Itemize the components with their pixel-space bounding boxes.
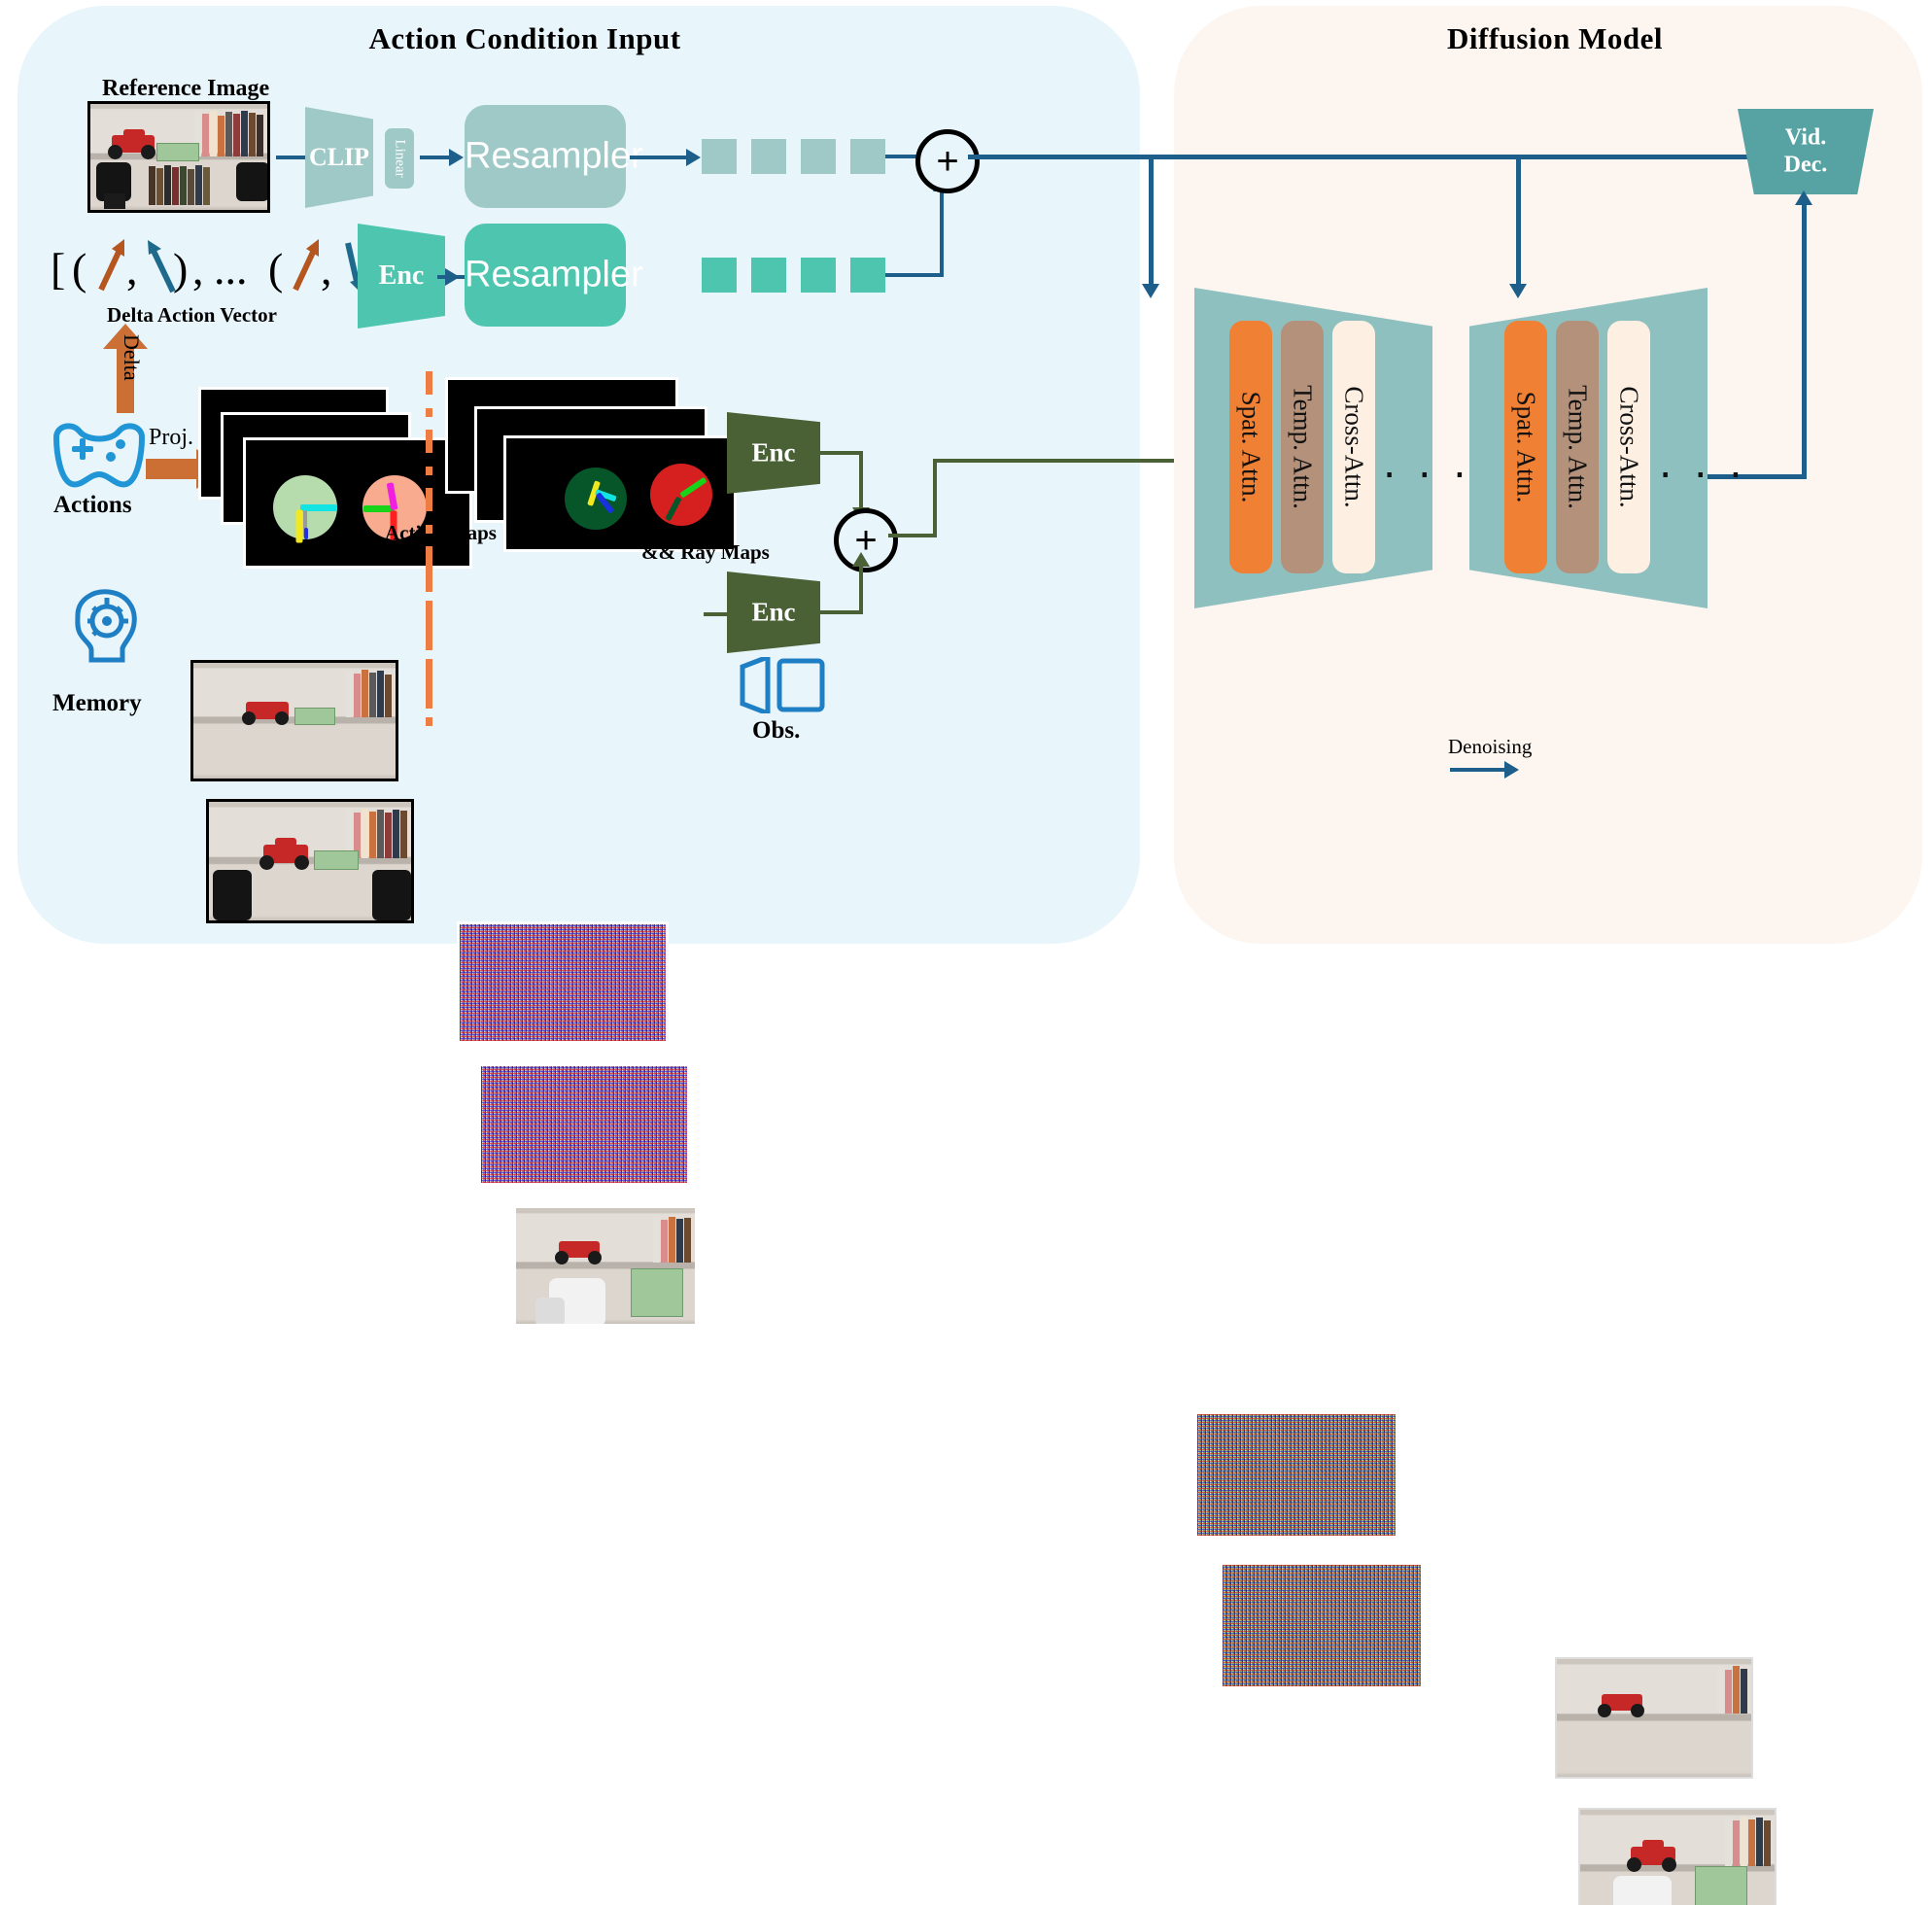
ray-map-disk-green bbox=[565, 468, 627, 530]
unet-ellipsis-1: · · · bbox=[1382, 445, 1471, 498]
bus-branch-2-head bbox=[1509, 284, 1527, 298]
dashed-divider-bottom bbox=[426, 564, 433, 748]
reference-image-label: Reference Image bbox=[102, 76, 269, 102]
image-token-3 bbox=[850, 139, 885, 174]
reference-image-photo bbox=[87, 101, 270, 213]
wire-action-tokens-right bbox=[885, 273, 944, 277]
denoise-output-frame-back bbox=[1555, 1657, 1753, 1779]
action-encoder-block[interactable]: Enc bbox=[358, 224, 445, 329]
obs-noise-frame-mid bbox=[478, 1063, 690, 1186]
arrow-linear-to-resampler bbox=[420, 156, 451, 159]
action-stick-blue bbox=[304, 528, 308, 539]
actions-label: Actions bbox=[53, 492, 132, 519]
linear-block[interactable]: Linear bbox=[385, 128, 414, 189]
arrow-resampler-to-tokens-head bbox=[686, 149, 701, 166]
denoising-arrow bbox=[1450, 768, 1508, 772]
video-decoder-block[interactable]: Vid. Dec. bbox=[1738, 109, 1874, 194]
action-stick-yellow bbox=[296, 510, 303, 543]
action-maps-label: Action Maps bbox=[385, 521, 497, 545]
wire-adder2-right bbox=[888, 534, 937, 537]
temp-attn-block-2[interactable]: Temp. Attn. bbox=[1556, 321, 1599, 573]
proj-label: Proj. bbox=[149, 425, 193, 451]
bus-branch-1-head bbox=[1142, 284, 1159, 298]
conditioning-bus-line bbox=[968, 155, 1749, 159]
image-token-2 bbox=[801, 139, 836, 174]
spat-attn-block-1[interactable]: Spat. Attn. bbox=[1229, 321, 1272, 573]
resampler-action-label: Resampler bbox=[465, 255, 626, 296]
ray-map-frame-front bbox=[503, 435, 737, 552]
camera-obs-icon bbox=[739, 657, 826, 713]
clip-label: CLIP bbox=[305, 143, 373, 172]
spat-attn-block-2[interactable]: Spat. Attn. bbox=[1504, 321, 1547, 573]
resampler-action-block[interactable]: Resampler bbox=[465, 224, 626, 327]
image-token-0 bbox=[702, 139, 737, 174]
cross-attn-block-1[interactable]: Cross-Attn. bbox=[1332, 321, 1375, 573]
action-token-1 bbox=[751, 258, 786, 293]
wire-encobs-up-head bbox=[852, 552, 870, 567]
left-panel-title: Action Condition Input bbox=[321, 21, 729, 56]
obs-encoder-block[interactable]: Enc bbox=[727, 571, 820, 653]
obs-noise-frame-back bbox=[457, 921, 669, 1044]
arrow-resampler-to-tokens bbox=[630, 156, 690, 159]
action-token-0 bbox=[702, 258, 737, 293]
wire-action-tokens-up bbox=[940, 190, 944, 277]
cross-attn-label-1: Cross-Attn. bbox=[1339, 386, 1369, 507]
obs-label: Obs. bbox=[752, 717, 800, 745]
action-map-frame-front bbox=[243, 437, 472, 569]
wire-encray-down bbox=[859, 451, 863, 511]
arrow-linear-to-resampler-head bbox=[449, 149, 464, 166]
resampler-image-block[interactable]: Resampler bbox=[465, 105, 626, 208]
enc-action-label: Enc bbox=[358, 260, 445, 292]
wire-to-video-decoder bbox=[1802, 196, 1807, 478]
video-decoder-label-line1: Vid. bbox=[1738, 124, 1874, 152]
video-decoder-label-line2: Dec. bbox=[1738, 152, 1874, 179]
bus-branch-1 bbox=[1149, 155, 1154, 291]
enc-obs-label: Enc bbox=[727, 598, 820, 628]
delta-arrow-up-right-1 bbox=[95, 237, 128, 297]
memory-photo-front bbox=[206, 799, 414, 923]
wire-encray-right bbox=[818, 451, 863, 455]
temp-attn-block-1[interactable]: Temp. Attn. bbox=[1281, 321, 1324, 573]
memory-label: Memory bbox=[52, 690, 142, 717]
obs-photo-front bbox=[513, 1205, 698, 1327]
image-token-1 bbox=[751, 139, 786, 174]
cross-attn-label-2: Cross-Attn. bbox=[1614, 386, 1644, 507]
raymap-encoder-block[interactable]: Enc bbox=[727, 412, 820, 494]
wire-adder2-to-unet bbox=[933, 459, 1215, 463]
denoising-label: Denoising bbox=[1448, 735, 1532, 759]
plus-adder-icon: + bbox=[915, 129, 980, 193]
gamepad-icon bbox=[47, 420, 152, 490]
unet-ellipsis-2: · · · bbox=[1658, 445, 1747, 498]
wire-encobs-up bbox=[859, 564, 863, 612]
wire-adder2-up bbox=[933, 459, 937, 537]
clip-encoder-block[interactable]: CLIP bbox=[305, 107, 373, 208]
action-token-3 bbox=[850, 258, 885, 293]
spat-attn-label-2: Spat. Attn. bbox=[1511, 392, 1541, 503]
temp-attn-label-1: Temp. Attn. bbox=[1288, 385, 1318, 509]
linear-label: Linear bbox=[392, 139, 408, 177]
denoise-input-frame-back bbox=[1197, 1414, 1396, 1536]
delta-arrow-label: Delta bbox=[119, 334, 144, 381]
wire-encobs-right bbox=[818, 610, 863, 614]
denoise-input-frame-front bbox=[1223, 1565, 1421, 1686]
enc-raymap-label: Enc bbox=[727, 438, 820, 468]
memory-brain-icon bbox=[66, 586, 144, 670]
bus-branch-2 bbox=[1516, 155, 1521, 291]
cross-attn-block-2[interactable]: Cross-Attn. bbox=[1607, 321, 1650, 573]
action-token-2 bbox=[801, 258, 836, 293]
denoising-arrow-head bbox=[1504, 761, 1519, 779]
delta-action-vector-expression: [ ( , ) , ... ( , ) ] bbox=[51, 241, 371, 305]
resampler-image-label: Resampler bbox=[465, 136, 626, 178]
memory-photo-back bbox=[190, 660, 398, 781]
delta-arrow-up-right-2 bbox=[290, 237, 323, 297]
temp-attn-label-2: Temp. Attn. bbox=[1563, 385, 1593, 509]
ray-maps-label: && Ray Maps bbox=[641, 540, 770, 565]
arrow-enc-to-resampler2-head bbox=[445, 268, 460, 286]
denoise-output-frame-front bbox=[1578, 1808, 1777, 1905]
wire-to-video-decoder-head bbox=[1795, 190, 1812, 205]
right-panel-title: Diffusion Model bbox=[1351, 21, 1759, 56]
spat-attn-label-1: Spat. Attn. bbox=[1236, 392, 1266, 503]
